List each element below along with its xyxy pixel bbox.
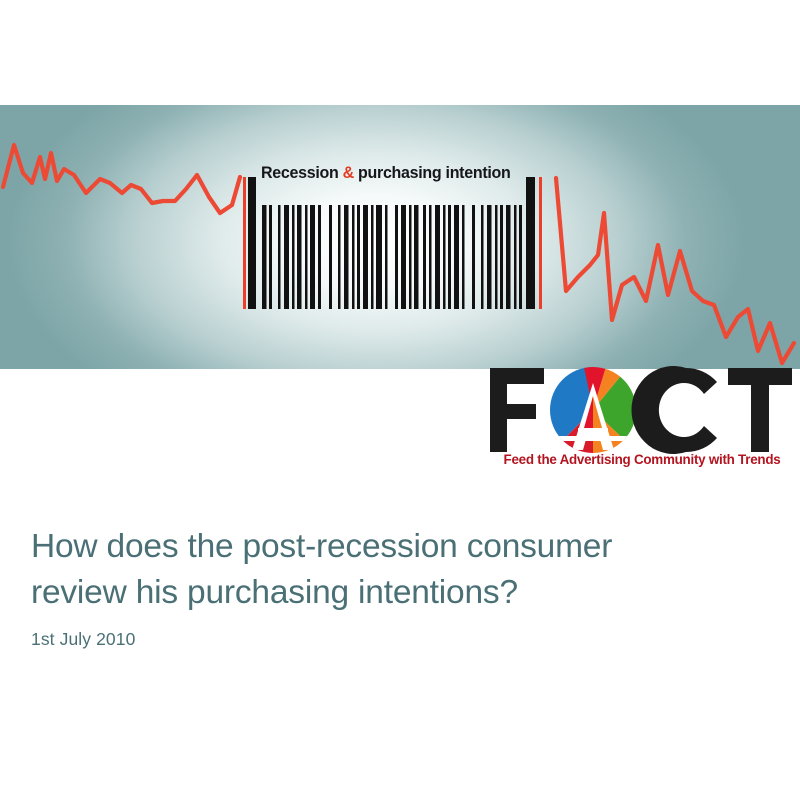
fact-logo: Feed the Advertising Community with Tren… [488,366,794,478]
fact-wordmark [488,366,794,454]
logo-letter-c [631,366,717,454]
barcode-bars [243,161,554,309]
barcode-graphic: Recession & purchasing intention [243,161,554,309]
barcode-guard-left [243,177,256,309]
barcode-guard-right [526,177,542,309]
page-date: 1st July 2010 [31,629,135,650]
page-title-line-2: review his purchasing intentions? [31,570,761,616]
page-title: How does the post-recession consumer rev… [31,524,761,616]
chart-line-right [556,178,794,363]
logo-letter-f [490,368,544,452]
page-title-line-1: How does the post-recession consumer [31,524,761,570]
chart-line-left [3,145,240,213]
logo-tagline: Feed the Advertising Community with Tren… [490,452,794,467]
logo-letter-t [728,368,792,452]
header-banner-image: Recession & purchasing intention [0,105,800,369]
logo-letter-a-piechart [548,367,640,453]
barcode-bar-group [262,205,522,309]
